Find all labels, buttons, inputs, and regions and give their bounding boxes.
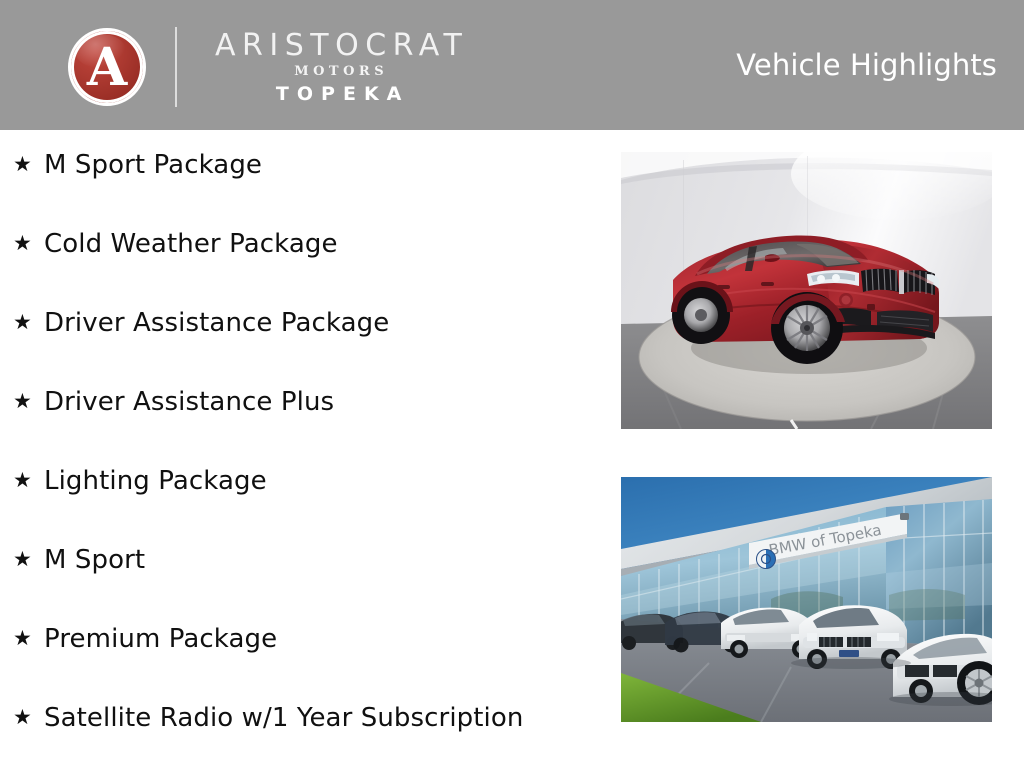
- list-item: ★ Driver Assistance Package: [13, 310, 613, 389]
- list-item: ★ Premium Package: [13, 626, 613, 705]
- list-item: ★ M Sport: [13, 547, 613, 626]
- star-bullet-icon: ★: [13, 312, 44, 333]
- dealership-photo: BMW of Topeka: [621, 477, 992, 722]
- list-item-label: Cold Weather Package: [44, 231, 338, 257]
- star-bullet-icon: ★: [13, 549, 44, 570]
- slide-root: A ARISTOCRAT MOTORS TOPEKA Vehicle Highl…: [0, 0, 1024, 768]
- list-item: ★ Driver Assistance Plus: [13, 389, 613, 468]
- star-bullet-icon: ★: [13, 707, 44, 728]
- brand-wordmark: ARISTOCRAT MOTORS TOPEKA: [209, 28, 468, 107]
- list-item-label: Driver Assistance Package: [44, 310, 389, 336]
- list-item-label: Premium Package: [44, 626, 277, 652]
- brand-name: ARISTOCRAT: [209, 30, 468, 62]
- brand-sub: MOTORS: [289, 62, 388, 82]
- list-item: ★ Cold Weather Package: [13, 231, 613, 310]
- vehicle-highlights-list: ★ M Sport Package ★ Cold Weather Package…: [13, 152, 613, 768]
- star-bullet-icon: ★: [13, 154, 44, 175]
- star-bullet-icon: ★: [13, 391, 44, 412]
- emblem-letter: A: [87, 42, 127, 94]
- star-bullet-icon: ★: [13, 628, 44, 649]
- list-item: ★ Lighting Package: [13, 468, 613, 547]
- vehicle-photo-graphic: [621, 152, 992, 429]
- header-bar: A ARISTOCRAT MOTORS TOPEKA Vehicle Highl…: [0, 0, 1024, 130]
- list-item-label: Lighting Package: [44, 468, 267, 494]
- brand-location: TOPEKA: [268, 83, 409, 107]
- list-item-label: M Sport: [44, 547, 145, 573]
- aristocrat-emblem-icon: A: [68, 28, 146, 106]
- list-item-label: Satellite Radio w/1 Year Subscription: [44, 705, 523, 731]
- dealership-photo-graphic: BMW of Topeka: [621, 477, 992, 722]
- star-bullet-icon: ★: [13, 233, 44, 254]
- list-item: ★ M Sport Package: [13, 152, 613, 231]
- list-item-label: Driver Assistance Plus: [44, 389, 334, 415]
- logo-divider: [175, 27, 177, 107]
- vehicle-photo: [621, 152, 992, 429]
- dealer-logo[interactable]: A ARISTOCRAT MOTORS TOPEKA: [68, 28, 468, 106]
- list-item-label: M Sport Package: [44, 152, 262, 178]
- list-item: ★ Satellite Radio w/1 Year Subscription: [13, 705, 613, 768]
- page-title: Vehicle Highlights: [736, 48, 997, 82]
- star-bullet-icon: ★: [13, 470, 44, 491]
